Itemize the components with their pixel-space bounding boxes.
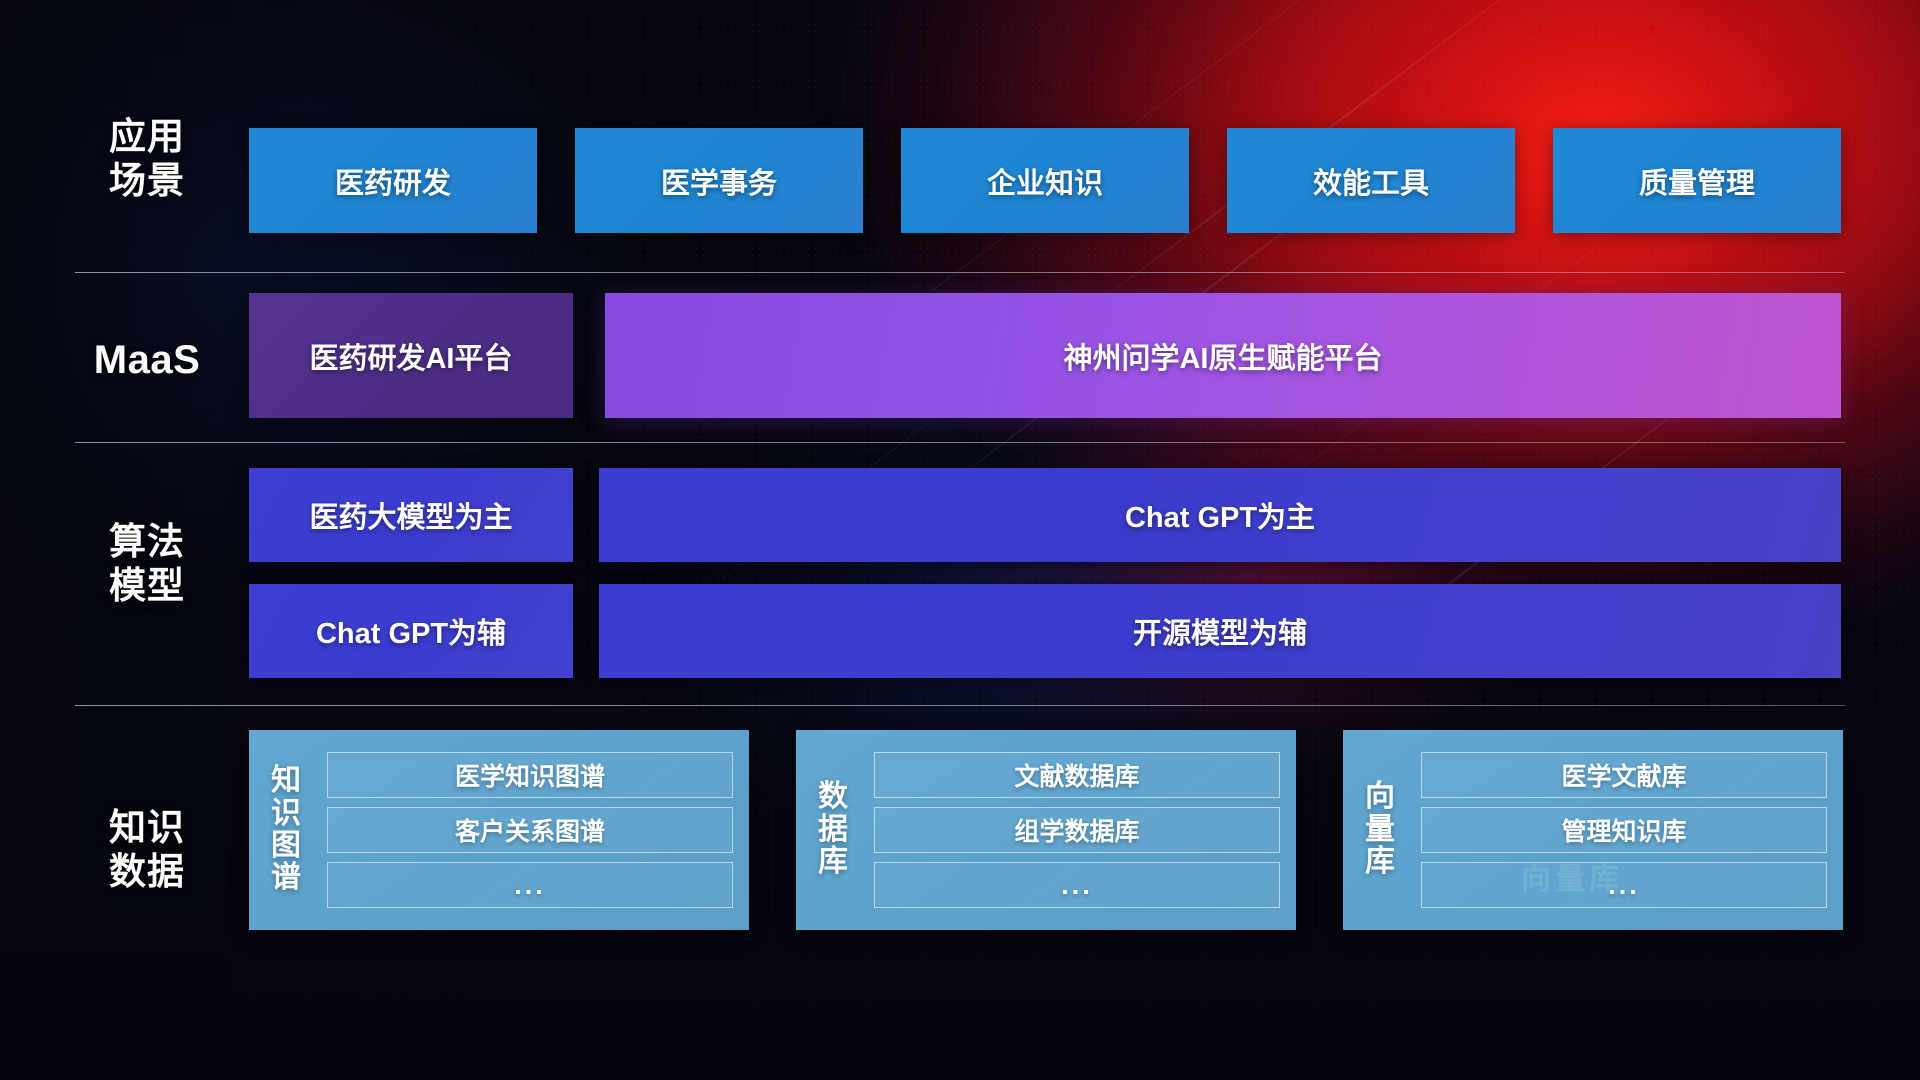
app-scenario-box-3[interactable]: 效能工具 xyxy=(1227,128,1515,233)
knowledge-item-0-1[interactable]: 客户关系图谱 xyxy=(327,807,733,853)
algorithm-label-right-1: 开源模型为辅 xyxy=(1133,610,1307,652)
knowledge-item-label-2-1: 管理知识库 xyxy=(1561,812,1686,848)
row-label-knowledge: 知识 数据 xyxy=(78,806,216,893)
divider-application-maas xyxy=(75,272,1845,273)
app-scenario-box-0[interactable]: 医药研发 xyxy=(249,128,537,233)
algorithm-box-right-1[interactable]: 开源模型为辅 xyxy=(599,584,1841,678)
algorithm-label-left-0: 医药大模型为主 xyxy=(309,494,512,536)
knowledge-group-title-1: 数 据 库 xyxy=(796,781,870,878)
knowledge-item-1-1[interactable]: 组学数据库 xyxy=(874,807,1280,853)
knowledge-item-0-0[interactable]: 医学知识图谱 xyxy=(327,752,733,798)
knowledge-item-label-2-0: 医学文献库 xyxy=(1561,757,1686,793)
knowledge-item-0-2[interactable]: ... xyxy=(327,862,733,908)
row-label-knowledge-line1: 知识 xyxy=(78,806,216,850)
knowledge-item-label-0-1: 客户关系图谱 xyxy=(455,812,605,848)
maas-platform-box-shenzhou[interactable]: 神州问学AI原生赋能平台 xyxy=(605,293,1841,418)
row-label-maas-text: MaaS xyxy=(78,337,216,384)
knowledge-item-label-1-1: 组学数据库 xyxy=(1014,812,1139,848)
knowledge-group-2[interactable]: 向量库 向 量 库 医学文献库 管理知识库 ... xyxy=(1343,730,1843,930)
knowledge-item-label-2-2: ... xyxy=(1608,870,1640,901)
app-scenario-label-4: 质量管理 xyxy=(1639,160,1755,202)
row-label-algorithm-line1: 算法 xyxy=(78,520,216,564)
app-scenario-box-1[interactable]: 医学事务 xyxy=(575,128,863,233)
knowledge-item-label-1-0: 文献数据库 xyxy=(1014,757,1139,793)
knowledge-group-items-1: 文献数据库 组学数据库 ... xyxy=(870,739,1296,921)
knowledge-group-title-1-char-2: 库 xyxy=(818,846,848,878)
divider-maas-algorithm xyxy=(75,442,1845,443)
knowledge-group-title-2-char-0: 向 xyxy=(1365,781,1395,813)
row-label-algorithm-line2: 模型 xyxy=(78,564,216,608)
app-scenario-label-0: 医药研发 xyxy=(335,160,451,202)
knowledge-group-1[interactable]: 数 据 库 文献数据库 组学数据库 ... xyxy=(796,730,1296,930)
row-label-application: 应用 场景 xyxy=(78,115,216,202)
app-scenario-box-2[interactable]: 企业知识 xyxy=(901,128,1189,233)
row-label-algorithm: 算法 模型 xyxy=(78,520,216,607)
algorithm-label-right-0: Chat GPT为主 xyxy=(1125,494,1315,536)
knowledge-item-1-0[interactable]: 文献数据库 xyxy=(874,752,1280,798)
knowledge-item-2-1[interactable]: 管理知识库 xyxy=(1421,807,1827,853)
knowledge-group-title-2-char-2: 库 xyxy=(1365,846,1395,878)
knowledge-group-title-1-char-0: 数 xyxy=(818,781,848,813)
app-scenario-label-2: 企业知识 xyxy=(987,160,1103,202)
app-scenario-box-4[interactable]: 质量管理 xyxy=(1553,128,1841,233)
app-scenario-label-1: 医学事务 xyxy=(661,160,777,202)
knowledge-group-items-0: 医学知识图谱 客户关系图谱 ... xyxy=(323,739,749,921)
maas-platform-label-medical: 医药研发AI平台 xyxy=(309,335,512,377)
algorithm-box-right-0[interactable]: Chat GPT为主 xyxy=(599,468,1841,562)
algorithm-label-left-1: Chat GPT为辅 xyxy=(316,610,506,652)
knowledge-group-title-0-char-1: 识 xyxy=(271,798,301,830)
knowledge-group-title-0-char-3: 谱 xyxy=(271,862,301,894)
knowledge-group-title-2: 向 量 库 xyxy=(1343,781,1417,878)
algorithm-box-left-0[interactable]: 医药大模型为主 xyxy=(249,468,573,562)
knowledge-item-2-0[interactable]: 医学文献库 xyxy=(1421,752,1827,798)
row-label-application-line2: 场景 xyxy=(78,159,216,203)
knowledge-group-0[interactable]: 知 识 图 谱 医学知识图谱 客户关系图谱 ... xyxy=(249,730,749,930)
row-label-application-line1: 应用 xyxy=(78,115,216,159)
row-label-maas: MaaS xyxy=(78,337,216,384)
knowledge-item-label-1-2: ... xyxy=(1061,870,1093,901)
row-label-knowledge-line2: 数据 xyxy=(78,850,216,894)
architecture-diagram: 应用 场景 医药研发 医学事务 企业知识 效能工具 质量管理 MaaS 医药研发… xyxy=(0,0,1920,1080)
knowledge-item-1-2[interactable]: ... xyxy=(874,862,1280,908)
knowledge-group-title-0: 知 识 图 谱 xyxy=(249,765,323,895)
knowledge-item-2-2[interactable]: ... xyxy=(1421,862,1827,908)
knowledge-group-title-2-char-1: 量 xyxy=(1365,814,1395,846)
knowledge-group-title-0-char-2: 图 xyxy=(271,830,301,862)
algorithm-box-left-1[interactable]: Chat GPT为辅 xyxy=(249,584,573,678)
maas-platform-box-medical[interactable]: 医药研发AI平台 xyxy=(249,293,573,418)
app-scenario-label-3: 效能工具 xyxy=(1313,160,1429,202)
knowledge-item-label-0-2: ... xyxy=(514,870,546,901)
knowledge-group-title-0-char-0: 知 xyxy=(271,765,301,797)
divider-algorithm-knowledge xyxy=(75,705,1845,706)
maas-platform-label-shenzhou: 神州问学AI原生赋能平台 xyxy=(1063,335,1382,377)
knowledge-item-label-0-0: 医学知识图谱 xyxy=(455,757,605,793)
knowledge-group-items-2: 医学文献库 管理知识库 ... xyxy=(1417,739,1843,921)
knowledge-group-title-1-char-1: 据 xyxy=(818,814,848,846)
